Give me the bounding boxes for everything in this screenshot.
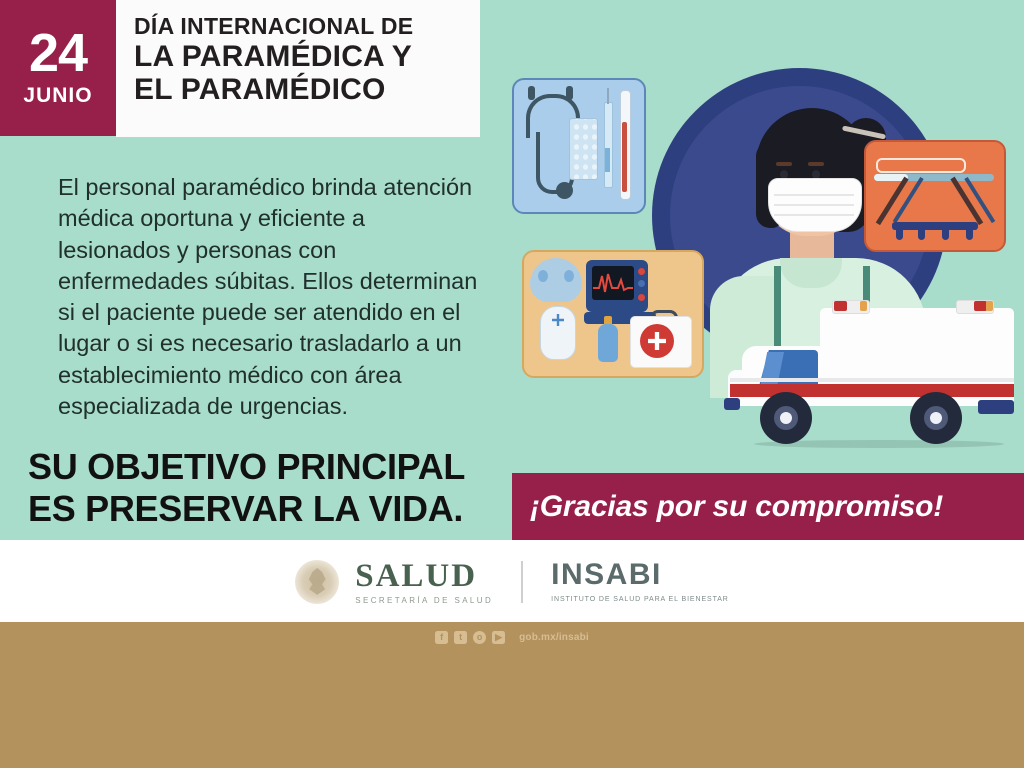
thermometer-mercury — [622, 122, 627, 192]
ambulance-hubcap-rear — [930, 412, 942, 424]
youtube-icon[interactable]: ▶ — [492, 631, 505, 644]
oxygen-tank-icon — [598, 324, 618, 362]
mask-fold-1 — [774, 194, 854, 196]
salud-name: SALUD — [355, 560, 493, 593]
facebook-icon[interactable]: f — [435, 631, 448, 644]
syringe-needle — [607, 88, 609, 104]
monitor-button-3 — [638, 294, 645, 301]
footer-logos: SALUD SECRETARÍA DE SALUD INSABI INSTITU… — [0, 552, 1024, 612]
ambulance-light-amber-right — [986, 301, 993, 311]
thanks-banner: ¡Gracias por su compromiso! — [512, 473, 1024, 540]
date-block: 24 JUNIO — [0, 0, 116, 136]
ambulance-light-amber-left — [860, 301, 867, 311]
stretcher-wheel-bar — [892, 222, 978, 230]
logo-divider — [521, 561, 523, 603]
stretcher-card — [864, 140, 1006, 252]
title-line-2: LA PARAMÉDICA Y — [134, 40, 480, 74]
ambulance-bumper-rear — [978, 400, 1014, 414]
syringe-fill — [605, 148, 610, 172]
headline: SU OBJETIVO PRINCIPAL ES PRESERVAR LA VI… — [28, 446, 528, 530]
syringe-icon — [604, 102, 613, 188]
mexico-eagle-emblem-icon — [295, 560, 339, 604]
stretcher-wheel-3 — [942, 230, 949, 240]
ambulance-bumper-front — [724, 398, 740, 410]
stethoscope-earpiece-left — [528, 86, 535, 100]
stretcher-wheel-1 — [896, 230, 903, 240]
monitor-button-2 — [638, 280, 645, 287]
stethoscope-diaphragm — [556, 182, 573, 199]
ecg-waveform-icon — [592, 266, 634, 300]
salud-logo: SALUD SECRETARÍA DE SALUD — [355, 560, 493, 605]
website-link[interactable]: gob.mx/insabi — [519, 632, 589, 643]
stretcher-wheel-2 — [918, 230, 925, 240]
oxygen-mask-port-right — [564, 270, 574, 282]
ambulance-light-red-left — [834, 301, 847, 311]
illustration — [512, 18, 1024, 468]
ambulance-icon — [724, 300, 1014, 436]
headline-line-1: SU OBJETIVO PRINCIPAL — [28, 446, 528, 488]
pill-blister-icon — [569, 118, 598, 180]
date-month: JUNIO — [23, 84, 92, 108]
oxygen-mask-port-left — [538, 270, 548, 282]
body-paragraph: El personal paramédico brinda atención m… — [58, 172, 478, 422]
salud-subtitle: SECRETARÍA DE SALUD — [355, 597, 493, 605]
ambulance-hubcap-front — [780, 412, 792, 424]
ecg-screen — [592, 266, 634, 300]
social-bar: f t o ▶ gob.mx/insabi — [0, 627, 1024, 647]
instagram-icon[interactable]: o — [473, 631, 486, 644]
eyebrow-right — [808, 162, 824, 166]
oxygen-mask-icon — [530, 258, 582, 302]
headline-line-2: ES PRESERVAR LA VIDA. — [28, 488, 528, 530]
poster-canvas: 24 JUNIO DÍA INTERNACIONAL DE LA PARAMÉD… — [0, 0, 1024, 768]
thanks-text: ¡Gracias por su compromiso! — [512, 490, 943, 524]
date-day: 24 — [29, 28, 87, 79]
twitter-icon[interactable]: t — [454, 631, 467, 644]
title-line-1: DÍA INTERNACIONAL DE — [134, 14, 480, 40]
mask-fold-2 — [774, 204, 854, 206]
monitor-button-1 — [638, 268, 645, 275]
ambulance-stripe-thin — [730, 378, 1014, 382]
insabi-subtitle: INSTITUTO DE SALUD PARA EL BIENESTAR — [551, 595, 729, 604]
insabi-logo: INSABI INSTITUTO DE SALUD PARA EL BIENES… — [551, 560, 729, 604]
stretcher-wheel-4 — [966, 230, 973, 240]
title-line-3: EL PARAMÉDICO — [134, 73, 480, 107]
mask-fold-3 — [774, 214, 854, 216]
eyebrow-left — [776, 162, 792, 166]
title-block: DÍA INTERNACIONAL DE LA PARAMÉDICA Y EL … — [116, 0, 480, 137]
stretcher-rail-top — [876, 158, 966, 173]
insabi-name: INSABI — [551, 560, 729, 590]
